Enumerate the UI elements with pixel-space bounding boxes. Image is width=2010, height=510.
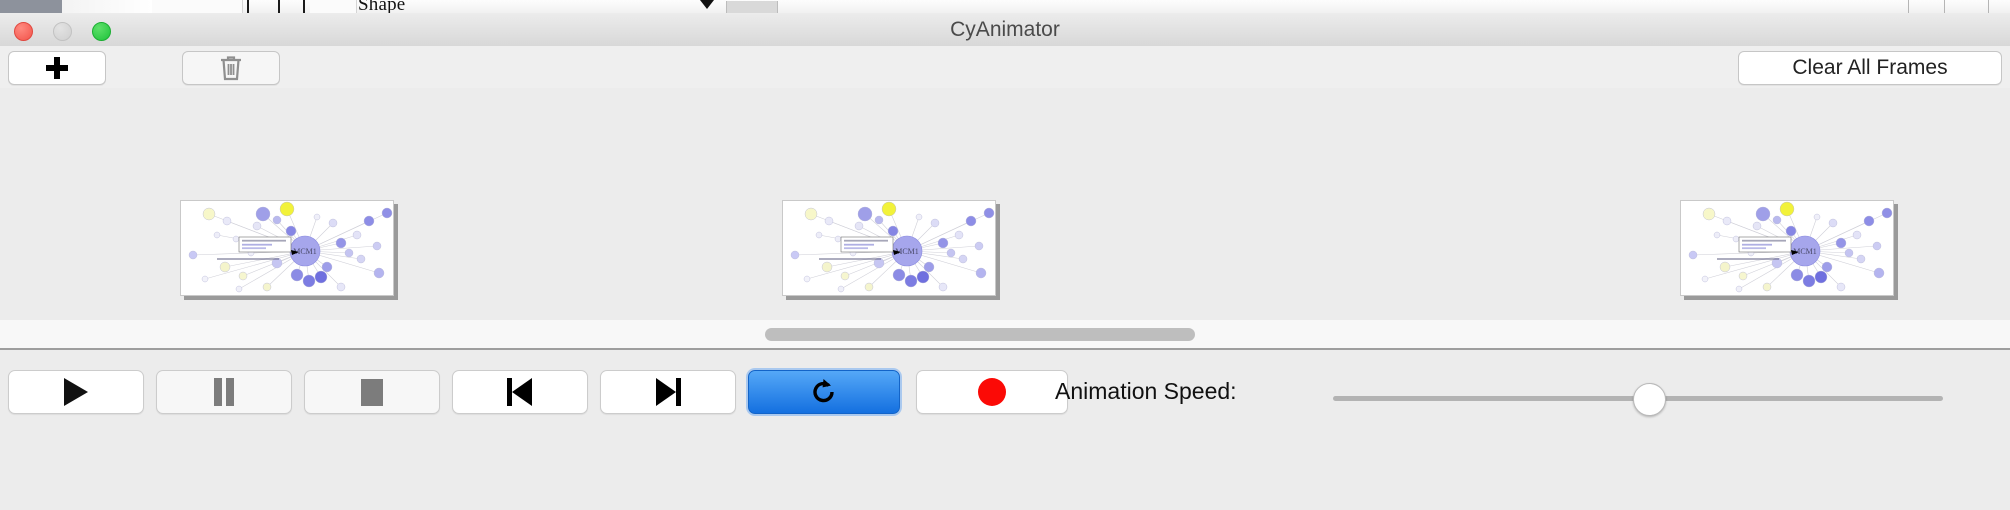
background-divider xyxy=(1944,0,1945,13)
pause-button[interactable] xyxy=(156,370,292,414)
background-cell xyxy=(152,0,213,13)
background-tick xyxy=(247,0,249,13)
skip-previous-icon xyxy=(507,378,533,406)
loop-icon xyxy=(809,377,839,407)
pause-icon xyxy=(213,378,235,406)
animation-speed-label: Animation Speed: xyxy=(1055,378,1237,405)
record-icon xyxy=(978,378,1006,406)
background-panel-fragment xyxy=(62,0,152,13)
background-window-strip: Shape xyxy=(0,0,2010,14)
network-graph: MCM1 xyxy=(783,201,995,295)
frame-canvas: MCM1 xyxy=(180,200,394,296)
background-divider xyxy=(1908,0,1909,13)
frame-thumbnail-2[interactable]: MCM1 xyxy=(782,200,1000,300)
stop-icon xyxy=(361,379,383,406)
timeline-scrollbar-track[interactable] xyxy=(0,320,2010,350)
background-divider xyxy=(1988,0,1989,13)
frame-canvas: MCM1 xyxy=(782,200,996,296)
skip-next-icon xyxy=(655,378,681,406)
clear-all-frames-label: Clear All Frames xyxy=(1792,56,1947,80)
network-graph: MCM1 xyxy=(181,201,393,295)
add-frame-button[interactable] xyxy=(8,51,106,85)
background-tick xyxy=(303,0,305,13)
frame-canvas: MCM1 xyxy=(1680,200,1894,296)
background-titlebar-fragment xyxy=(0,0,62,13)
playback-toolbar: Animation Speed: xyxy=(0,350,2010,510)
delete-frame-button[interactable] xyxy=(182,51,280,85)
loop-button[interactable] xyxy=(748,370,900,414)
animation-speed-slider-knob[interactable] xyxy=(1633,383,1666,416)
clear-all-frames-button[interactable]: Clear All Frames xyxy=(1738,51,2002,85)
network-graph: MCM1 xyxy=(1681,201,1893,295)
background-cell xyxy=(212,0,243,13)
frame-toolbar: Clear All Frames xyxy=(0,46,2010,89)
background-window-label: Shape xyxy=(358,0,405,14)
background-marker xyxy=(700,0,714,9)
timeline-panel[interactable]: MCM1MCM1MCM1 12131415161718 Seconds xyxy=(0,88,2010,321)
plus-icon xyxy=(46,57,68,79)
play-icon xyxy=(64,378,88,406)
skip-to-start-button[interactable] xyxy=(452,370,588,414)
background-grey-box xyxy=(726,1,778,13)
cyanimator-window: Shape CyAnimator Clear All Frames xyxy=(0,0,2010,510)
background-cell xyxy=(310,0,357,13)
skip-to-end-button[interactable] xyxy=(600,370,736,414)
record-button[interactable] xyxy=(916,370,1068,414)
frame-thumbnail-1[interactable]: MCM1 xyxy=(180,200,398,300)
timeline-scrollbar-thumb[interactable] xyxy=(765,328,1195,341)
frame-thumbnail-3[interactable]: MCM1 xyxy=(1680,200,1898,300)
background-tick xyxy=(278,0,280,13)
title-bar: CyAnimator xyxy=(0,13,2010,47)
play-button[interactable] xyxy=(8,370,144,414)
trash-icon xyxy=(218,54,244,82)
window-title: CyAnimator xyxy=(0,13,2010,46)
stop-button[interactable] xyxy=(304,370,440,414)
